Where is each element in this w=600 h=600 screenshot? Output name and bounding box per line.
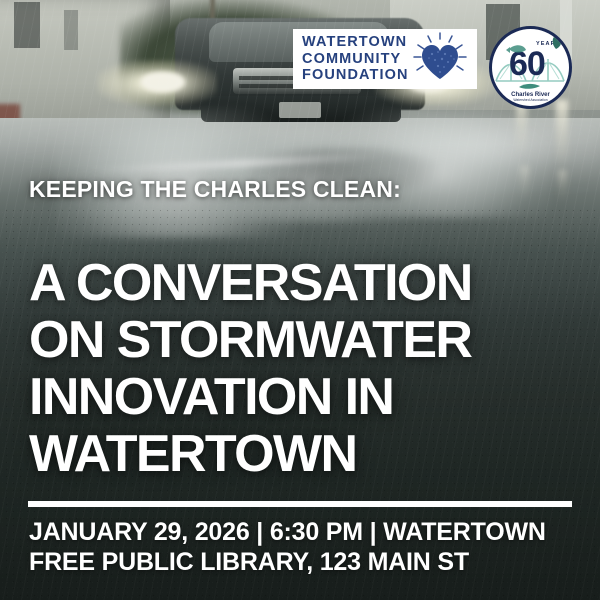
- event-poster: WATERTOWN COMMUNITY FOUNDATION: [0, 0, 600, 600]
- headline-line-1: A CONVERSATION: [29, 255, 574, 312]
- headline-line-4: WATERTOWN: [29, 426, 574, 483]
- poster-footer-details: JANUARY 29, 2026 | 6:30 PM | WATERTOWN F…: [29, 517, 574, 577]
- headline-line-3: INNOVATION IN: [29, 369, 574, 426]
- headline-line-2: ON STORMWATER: [29, 312, 574, 369]
- watertown-community-foundation-logo: WATERTOWN COMMUNITY FOUNDATION: [293, 29, 477, 89]
- crwa-org-subtitle: Watershed Association: [513, 98, 547, 102]
- divider-rule: [28, 501, 572, 507]
- poster-kicker: KEEPING THE CHARLES CLEAN:: [29, 176, 401, 203]
- footer-line-2: FREE PUBLIC LIBRARY, 123 MAIN ST: [29, 547, 574, 577]
- poster-headline: A CONVERSATION ON STORMWATER INNOVATION …: [29, 255, 574, 483]
- wcf-wordmark: WATERTOWN COMMUNITY FOUNDATION: [302, 34, 409, 84]
- footer-line-1: JANUARY 29, 2026 | 6:30 PM | WATERTOWN: [29, 517, 574, 547]
- heart-icon: [409, 32, 471, 86]
- charles-river-watershed-association-logo: YEARS 60 Charles River Watershed Associa…: [489, 26, 572, 109]
